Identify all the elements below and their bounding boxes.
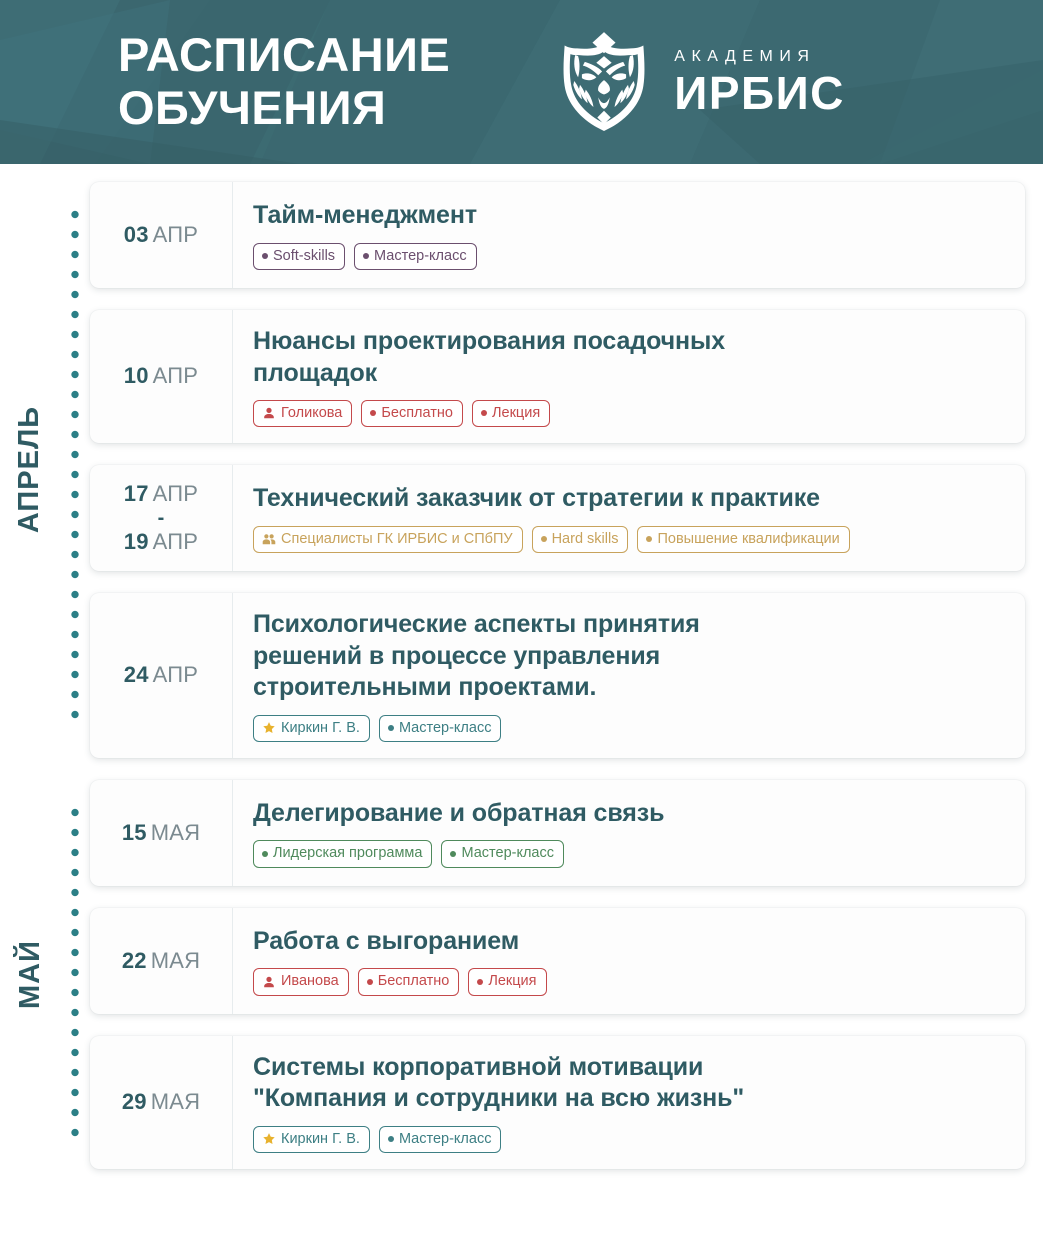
timeline-dotted-line <box>60 182 90 758</box>
event-tag-label: Мастер-класс <box>461 844 554 862</box>
dot-icon <box>541 536 547 542</box>
event-tag-label: Лекция <box>488 972 536 990</box>
dot-icon <box>262 851 268 857</box>
person-icon <box>262 975 276 989</box>
event-tag[interactable]: Киркин Г. В. <box>253 715 370 742</box>
event-tag-label: Лекция <box>492 404 540 422</box>
event-content: Нюансы проектирования посадочных площадо… <box>233 310 1025 443</box>
person-icon <box>262 406 276 420</box>
dot-icon <box>477 979 483 985</box>
event-date-line: 03АПР <box>124 221 198 249</box>
event-date: 15МАЯ <box>90 780 233 886</box>
event-tag[interactable]: Иванова <box>253 968 349 995</box>
event-title: Работа с выгоранием <box>253 926 1007 958</box>
bottom-spacer <box>0 1169 1043 1179</box>
event-tag-label: Специалисты ГК ИРБИС и СПбПУ <box>281 530 513 548</box>
timeline-dotted-line <box>60 780 90 1169</box>
brand-name: ИРБИС <box>674 70 845 116</box>
event-date-line: 29МАЯ <box>122 1088 200 1116</box>
event-date: 17АПР-19АПР <box>90 465 233 571</box>
event-card[interactable]: 10АПРНюансы проектирования посадочных пл… <box>90 310 1025 443</box>
event-title: Тайм-менеджмент <box>253 200 1007 232</box>
event-tag-label: Иванова <box>281 972 339 990</box>
event-tag[interactable]: Киркин Г. В. <box>253 1126 370 1153</box>
event-tag-label: Мастер-класс <box>399 719 492 737</box>
event-tag-row: Киркин Г. В.Мастер-класс <box>253 715 1007 742</box>
poster-header: РАСПИСАНИЕ ОБУЧЕНИЯ <box>0 0 1043 164</box>
event-card-list: 15МАЯДелегирование и обратная связьЛидер… <box>90 780 1043 1169</box>
event-month-abbr: МАЯ <box>151 820 201 845</box>
event-tag[interactable]: Мастер-класс <box>379 715 502 742</box>
event-tag-label: Hard skills <box>552 530 619 548</box>
event-tag-label: Голикова <box>281 404 342 422</box>
event-title: Делегирование и обратная связь <box>253 798 1007 830</box>
event-tag[interactable]: Лидерская программа <box>253 840 432 867</box>
event-tag-row: Специалисты ГК ИРБИС и СПбПУHard skillsП… <box>253 526 1007 553</box>
event-tag-row: ИвановаБесплатноЛекция <box>253 968 1007 995</box>
dot-icon <box>262 253 268 259</box>
dot-icon <box>388 725 394 731</box>
event-tag-row: Soft-skillsМастер-класс <box>253 243 1007 270</box>
event-content: Психологические аспекты принятия решений… <box>233 593 1025 758</box>
event-tag-row: ГоликоваБесплатноЛекция <box>253 400 1007 427</box>
event-tag[interactable]: Специалисты ГК ИРБИС и СПбПУ <box>253 526 523 553</box>
dot-icon <box>481 410 487 416</box>
month-label-column: АПРЕЛЬ <box>0 182 60 758</box>
month-blocks: АПРЕЛЬ03АПРТайм-менеджментSoft-skillsМас… <box>0 182 1043 1169</box>
event-card-list: 03АПРТайм-менеджментSoft-skillsМастер-кл… <box>90 182 1043 758</box>
event-date: 24АПР <box>90 593 233 758</box>
event-card[interactable]: 24АПРПсихологические аспекты принятия ре… <box>90 593 1025 758</box>
event-date-line: 19АПР <box>124 528 198 556</box>
snow-leopard-head-icon <box>556 30 652 134</box>
event-month-abbr: МАЯ <box>151 948 201 973</box>
event-card[interactable]: 17АПР-19АПРТехнический заказчик от страт… <box>90 465 1025 571</box>
event-date-line: 17АПР <box>124 480 198 508</box>
event-tag[interactable]: Лекция <box>468 968 546 995</box>
event-title: Системы корпоративной мотивации "Компани… <box>253 1052 1007 1115</box>
event-tag[interactable]: Мастер-класс <box>379 1126 502 1153</box>
page-title: РАСПИСАНИЕ ОБУЧЕНИЯ <box>118 29 450 134</box>
event-tag[interactable]: Лекция <box>472 400 550 427</box>
month-label: МАЙ <box>14 940 47 1009</box>
event-tag-label: Бесплатно <box>378 972 450 990</box>
event-day-number: 24 <box>124 662 149 687</box>
event-tag[interactable]: Soft-skills <box>253 243 345 270</box>
event-month-abbr: АПР <box>153 481 199 506</box>
event-tag[interactable]: Мастер-класс <box>441 840 564 867</box>
event-tag-label: Киркин Г. В. <box>281 1130 360 1148</box>
star-icon <box>262 1132 276 1146</box>
event-tag-label: Soft-skills <box>273 247 335 265</box>
event-card[interactable]: 29МАЯСистемы корпоративной мотивации "Ко… <box>90 1036 1025 1169</box>
event-date-line: 22МАЯ <box>122 947 200 975</box>
dotted-line-graphic <box>71 210 80 730</box>
event-card[interactable]: 03АПРТайм-менеджментSoft-skillsМастер-кл… <box>90 182 1025 288</box>
event-title: Психологические аспекты принятия решений… <box>253 609 1007 704</box>
event-date-line: 15МАЯ <box>122 819 200 847</box>
dot-icon <box>370 410 376 416</box>
dot-icon <box>450 851 456 857</box>
event-date: 29МАЯ <box>90 1036 233 1169</box>
event-day-number: 17 <box>124 481 149 506</box>
event-tag[interactable]: Бесплатно <box>358 968 460 995</box>
event-title: Нюансы проектирования посадочных площадо… <box>253 326 1007 389</box>
event-month-abbr: АПР <box>153 662 199 687</box>
event-day-number: 10 <box>124 363 149 388</box>
event-tag[interactable]: Бесплатно <box>361 400 463 427</box>
event-content: Системы корпоративной мотивации "Компани… <box>233 1036 1025 1169</box>
event-month-abbr: АПР <box>153 222 199 247</box>
event-month-abbr: МАЯ <box>151 1089 201 1114</box>
event-tag-label: Киркин Г. В. <box>281 719 360 737</box>
event-content: Технический заказчик от стратегии к прак… <box>233 465 1025 571</box>
event-tag-row: Киркин Г. В.Мастер-класс <box>253 1126 1007 1153</box>
event-month-abbr: АПР <box>153 363 199 388</box>
date-range-separator: - <box>158 509 165 527</box>
event-title: Технический заказчик от стратегии к прак… <box>253 483 1007 515</box>
schedule-poster: РАСПИСАНИЕ ОБУЧЕНИЯ <box>0 0 1043 1245</box>
event-tag-label: Бесплатно <box>381 404 453 422</box>
star-icon <box>262 721 276 735</box>
event-tag-label: Повышение квалификации <box>657 530 839 548</box>
month-label: АПРЕЛЬ <box>14 406 47 533</box>
dot-icon <box>388 1136 394 1142</box>
event-tag-label: Мастер-класс <box>374 247 467 265</box>
people-icon <box>262 532 276 546</box>
event-tag-row: Лидерская программаМастер-класс <box>253 840 1007 867</box>
event-card[interactable]: 22МАЯРабота с выгораниемИвановаБесплатно… <box>90 908 1025 1014</box>
event-date-line: 24АПР <box>124 661 198 689</box>
event-day-number: 22 <box>122 948 147 973</box>
event-tag[interactable]: Повышение квалификации <box>637 526 849 553</box>
dot-icon <box>367 979 373 985</box>
event-tag-label: Лидерская программа <box>273 844 422 862</box>
event-date: 03АПР <box>90 182 233 288</box>
event-day-number: 19 <box>124 529 149 554</box>
event-card[interactable]: 15МАЯДелегирование и обратная связьЛидер… <box>90 780 1025 886</box>
event-tag-label: Мастер-класс <box>399 1130 492 1148</box>
event-day-number: 03 <box>124 222 149 247</box>
event-tag[interactable]: Мастер-класс <box>354 243 477 270</box>
event-date-line: 10АПР <box>124 362 198 390</box>
dot-icon <box>646 536 652 542</box>
month-block: АПРЕЛЬ03АПРТайм-менеджментSoft-skillsМас… <box>0 182 1043 758</box>
event-month-abbr: АПР <box>153 529 199 554</box>
month-label-column: МАЙ <box>0 780 60 1169</box>
event-content: Работа с выгораниемИвановаБесплатноЛекци… <box>233 908 1025 1014</box>
brand-lockup: АКАДЕМИЯ ИРБИС <box>556 30 845 134</box>
event-day-number: 29 <box>122 1089 147 1114</box>
event-content: Тайм-менеджментSoft-skillsМастер-класс <box>233 182 1025 288</box>
event-tag[interactable]: Hard skills <box>532 526 629 553</box>
event-date: 22МАЯ <box>90 908 233 1014</box>
schedule-body: АПРЕЛЬ03АПРТайм-менеджментSoft-skillsМас… <box>0 164 1043 1179</box>
event-date: 10АПР <box>90 310 233 443</box>
event-tag[interactable]: Голикова <box>253 400 352 427</box>
brand-subtitle: АКАДЕМИЯ <box>674 49 815 65</box>
month-block: МАЙ15МАЯДелегирование и обратная связьЛи… <box>0 780 1043 1169</box>
dot-icon <box>363 253 369 259</box>
event-day-number: 15 <box>122 820 147 845</box>
dotted-line-graphic <box>71 808 80 1141</box>
event-content: Делегирование и обратная связьЛидерская … <box>233 780 1025 886</box>
